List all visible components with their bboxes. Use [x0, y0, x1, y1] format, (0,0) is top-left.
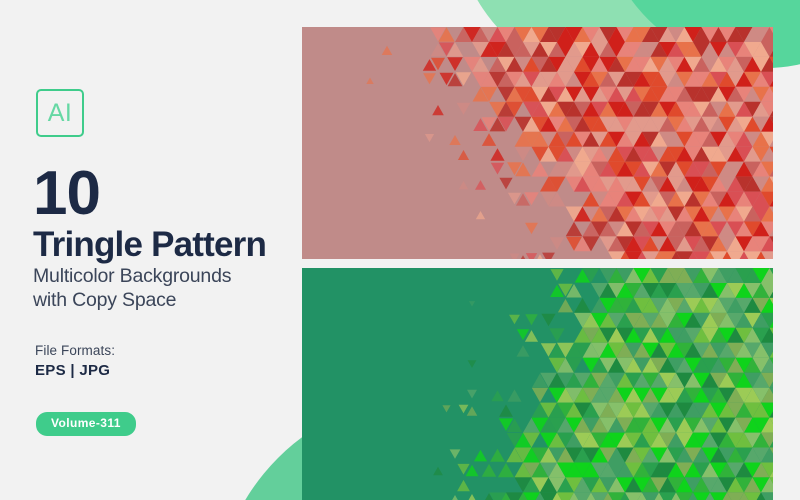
- info-column: AI 10 Tringle Pattern Multicolor Backgro…: [0, 0, 300, 500]
- page-subtitle-line-1: Multicolor Backgrounds: [33, 264, 231, 288]
- page-subtitle: Multicolor Backgrounds with Copy Space: [33, 264, 231, 313]
- poster-canvas: AI 10 Tringle Pattern Multicolor Backgro…: [0, 0, 800, 500]
- preview-panel-green: [302, 268, 773, 500]
- page-title: Tringle Pattern: [33, 227, 266, 262]
- file-formats-label: File Formats:: [35, 343, 115, 358]
- green-triangle-pattern: [302, 268, 773, 500]
- item-count: 10: [33, 163, 100, 225]
- volume-badge: Volume-311: [36, 412, 136, 436]
- file-formats-value: EPS | JPG: [35, 362, 110, 379]
- preview-panel-red: [302, 27, 773, 259]
- adobe-illustrator-icon: AI: [36, 89, 84, 137]
- page-subtitle-line-2: with Copy Space: [33, 288, 231, 312]
- red-triangle-pattern: [302, 27, 773, 259]
- ai-badge-label: AI: [48, 101, 73, 126]
